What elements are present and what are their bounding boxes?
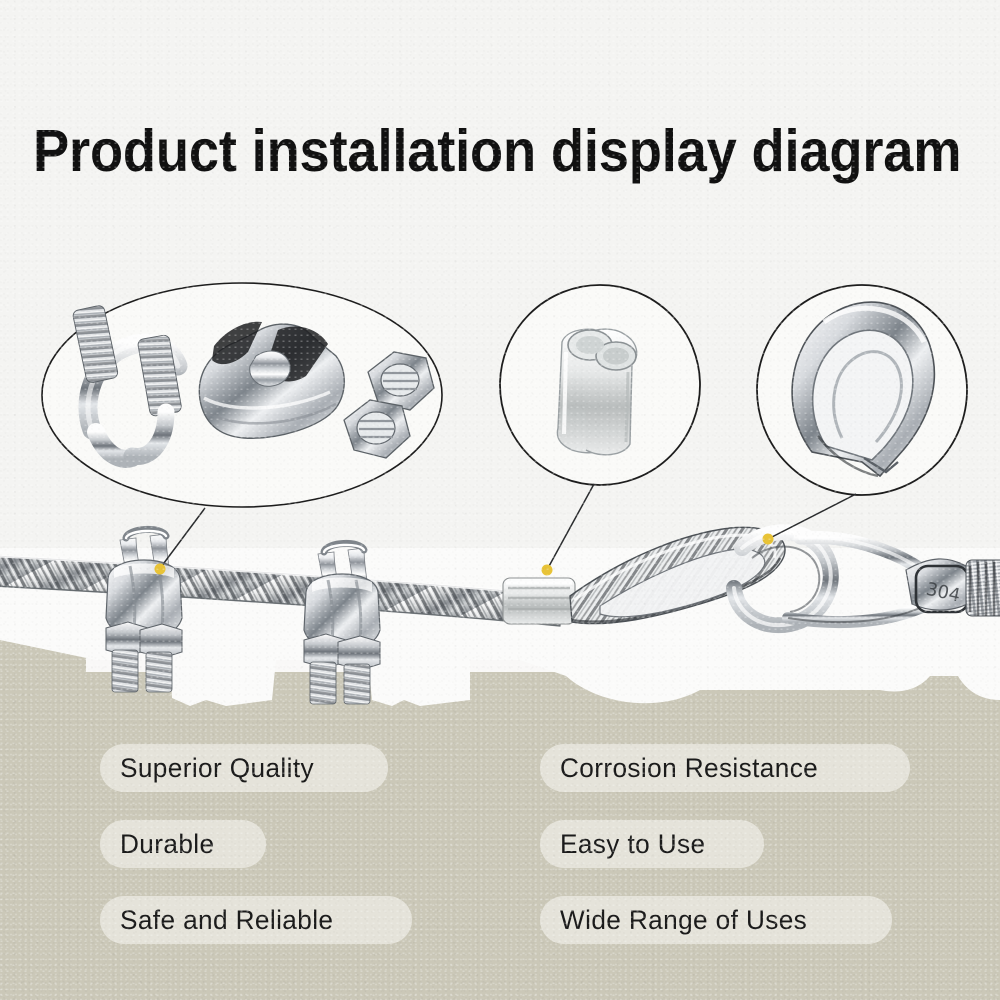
feature-label: Safe and Reliable [120, 905, 333, 936]
aluminum-ferrule-callout [500, 285, 700, 576]
feature-label: Superior Quality [120, 753, 314, 784]
product-infographic: Product installation display diagram [0, 0, 1000, 1000]
leader-dot-thimble [763, 534, 774, 545]
leader-dot-ferrule [542, 565, 553, 576]
feature-pill-easy-to-use: Easy to Use [540, 820, 764, 868]
feature-pill-durable: Durable [100, 820, 266, 868]
ferrule-part [557, 329, 636, 455]
leader-dot-clip [155, 564, 166, 575]
thimble-callout [757, 285, 967, 545]
feature-label: Wide Range of Uses [560, 905, 807, 936]
feature-label: Corrosion Resistance [560, 753, 818, 784]
feature-pill-corrosion-resistance: Corrosion Resistance [540, 744, 910, 792]
feature-pill-safe-and-reliable: Safe and Reliable [100, 896, 412, 944]
feature-pill-superior-quality: Superior Quality [100, 744, 388, 792]
wire-rope-clip-callout [42, 283, 442, 575]
aluminum-ferrule-sleeve [503, 578, 575, 624]
feature-label: Easy to Use [560, 829, 705, 860]
feature-pill-wide-range-of-uses: Wide Range of Uses [540, 896, 892, 944]
feature-label: Durable [120, 829, 214, 860]
page-title: Product installation display diagram [33, 122, 961, 181]
turnbuckle: 304 [906, 559, 1000, 616]
